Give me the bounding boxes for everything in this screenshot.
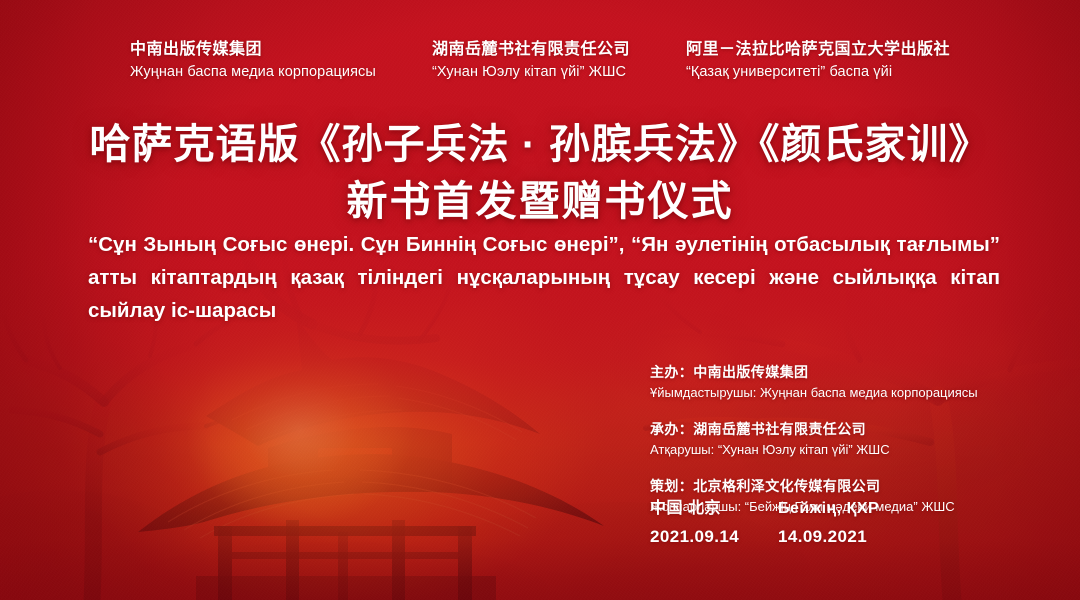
credit-executor-cn: 承办：湖南岳麓书社有限责任公司 xyxy=(650,419,978,440)
organizer-3-name-cn: 阿里－法拉比哈萨克国立大学出版社 xyxy=(686,38,950,61)
credit-host: 主办：中南出版传媒集团 Ұйымдастырушы: Жуңнан баспа … xyxy=(650,362,978,403)
credit-planner-cn: 策划：北京格利泽文化传媒有限公司 xyxy=(650,476,978,497)
place-date-cn: 中国 北京 2021.09.14 xyxy=(650,497,778,550)
main-title-chinese: 哈萨克语版《孙子兵法 · 孙膑兵法》《颜氏家训》 新书首发暨赠书仪式 xyxy=(0,118,1080,229)
main-title-kazakh: “Сұн Зының Соғыс өнері. Сұн Биннің Соғыс… xyxy=(88,228,1000,328)
main-title-line-1: 哈萨克语版《孙子兵法 · 孙膑兵法》《颜氏家训》 xyxy=(90,121,991,167)
organizer-1-name-cn: 中南出版传媒集团 xyxy=(130,38,376,61)
main-title-line-2: 新书首发暨赠书仪式 xyxy=(0,175,1080,228)
credit-host-cn: 主办：中南出版传媒集团 xyxy=(650,362,978,383)
date-kz: 14.09.2021 xyxy=(778,524,906,550)
credit-executor: 承办：湖南岳麓书社有限责任公司 Атқарушы: “Хунан Юэлу кі… xyxy=(650,419,978,460)
organizers-row: 中南出版传媒集团 Жуңнан баспа медиа корпорациясы… xyxy=(0,38,1080,84)
organizer-1-name-kz: Жуңнан баспа медиа корпорациясы xyxy=(130,62,376,84)
credits-block: 主办：中南出版传媒集团 Ұйымдастырушы: Жуңнан баспа … xyxy=(650,362,978,517)
place-and-date-block: 中国 北京 2021.09.14 Бейжің, ҚХР 14.09.2021 xyxy=(650,497,906,550)
place-cn: 中国 北京 xyxy=(650,497,778,520)
main-title-kazakh-text: “Сұн Зының Соғыс өнері. Сұн Биннің Соғыс… xyxy=(88,228,1000,328)
organizer-2-name-cn: 湖南岳麓书社有限责任公司 xyxy=(432,38,630,61)
organizer-2-name-kz: “Хунан Юэлу кітап үйі” ЖШС xyxy=(432,62,630,84)
event-banner: 中南出版传媒集团 Жуңнан баспа медиа корпорациясы… xyxy=(0,0,1080,600)
organizer-3: 阿里－法拉比哈萨克国立大学出版社 “Қазақ университеті” ба… xyxy=(686,38,950,84)
date-cn: 2021.09.14 xyxy=(650,524,778,550)
place-kz: Бейжің, ҚХР xyxy=(778,497,906,520)
credit-executor-kz: Атқарушы: “Хунан Юэлу кітап үйі” ЖШС xyxy=(650,440,978,460)
organizer-1: 中南出版传媒集团 Жуңнан баспа медиа корпорациясы xyxy=(130,38,376,84)
credit-host-kz: Ұйымдастырушы: Жуңнан баспа медиа корпор… xyxy=(650,383,978,403)
organizer-2: 湖南岳麓书社有限责任公司 “Хунан Юэлу кітап үйі” ЖШС xyxy=(432,38,630,84)
place-date-kz: Бейжің, ҚХР 14.09.2021 xyxy=(778,497,906,550)
organizer-3-name-kz: “Қазақ университеті” баспа үйі xyxy=(686,62,950,84)
